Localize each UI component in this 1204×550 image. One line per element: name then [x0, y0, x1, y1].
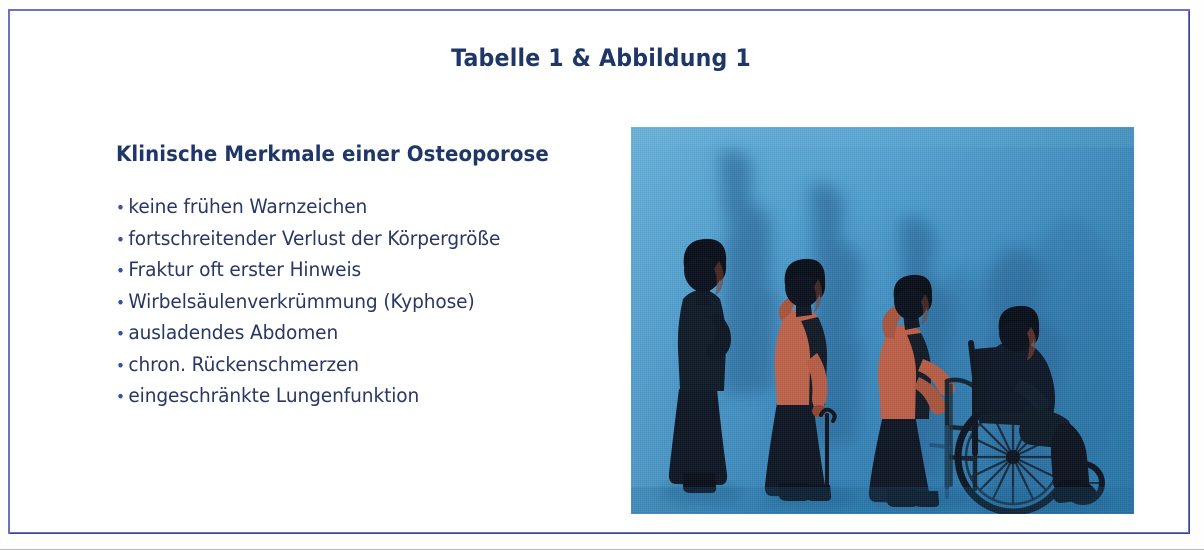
list-item: • Wirbelsäulenverkrümmung (Kyphose) [116, 287, 591, 319]
content-frame: Tabelle 1 & Abbildung 1 Klinische Merkma… [8, 9, 1190, 534]
bullet-dot-icon: • [116, 256, 128, 287]
list-item: • Fraktur oft erster Hinweis [116, 255, 591, 287]
list-item-label: fortschreitender Verlust der Körpergröße [128, 224, 500, 255]
document-page: Tabelle 1 & Abbildung 1 Klinische Merkma… [0, 0, 1204, 550]
list-item-label: chron. Rückenschmerzen [128, 350, 359, 381]
list-item: • chron. Rückenschmerzen [116, 350, 591, 382]
list-item: • fortschreitender Verlust der Körpergrö… [116, 224, 591, 256]
bullet-dot-icon: • [116, 288, 128, 319]
bullet-dot-icon: • [116, 193, 128, 224]
osteoporosis-progression-photo [631, 127, 1134, 514]
list-item: • eingeschränkte Lungenfunktion [116, 381, 591, 413]
list-item: • keine frühen Warnzeichen [116, 192, 591, 224]
bullet-dot-icon: • [116, 225, 128, 256]
photo-illustration [631, 127, 1134, 514]
page-title: Tabelle 1 & Abbildung 1 [57, 44, 1144, 72]
section-heading: Klinische Merkmale einer Osteoporose [116, 142, 586, 166]
clinical-features-panel: Klinische Merkmale einer Osteoporose • k… [116, 142, 616, 413]
clinical-features-list: • keine frühen Warnzeichen • fortschreit… [116, 192, 616, 413]
list-item-label: eingeschränkte Lungenfunktion [128, 381, 419, 412]
bullet-dot-icon: • [116, 382, 128, 413]
bullet-dot-icon: • [116, 319, 128, 350]
list-item-label: keine frühen Warnzeichen [128, 192, 367, 223]
list-item-label: ausladendes Abdomen [128, 318, 338, 349]
bullet-dot-icon: • [116, 351, 128, 382]
list-item: • ausladendes Abdomen [116, 318, 591, 350]
list-item-label: Fraktur oft erster Hinweis [128, 255, 361, 286]
list-item-label: Wirbelsäulenverkrümmung (Kyphose) [128, 287, 474, 318]
